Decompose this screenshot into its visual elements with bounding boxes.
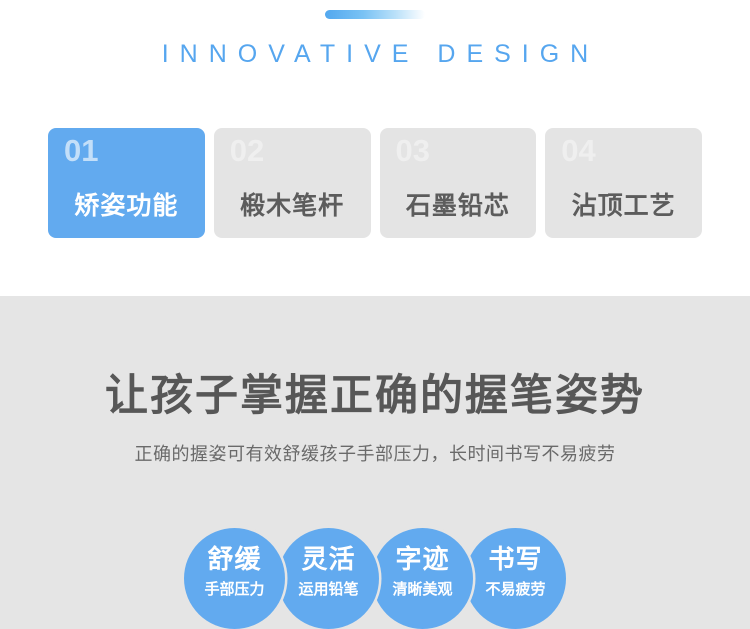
benefit-circle-2: 灵活 运用铅笔 [278, 528, 379, 629]
feature-tab-3-label: 石墨铅芯 [380, 186, 537, 222]
benefit-circle-3: 字迹 清晰美观 [372, 528, 473, 629]
benefit-circle-3-title: 字迹 [372, 546, 473, 572]
feature-tab-1-label: 矫姿功能 [48, 186, 205, 222]
feature-tab-2[interactable]: 02 椴木笔杆 [214, 128, 371, 238]
feature-tab-4-number: 04 [561, 135, 595, 166]
feature-tab-4-label: 沾顶工艺 [545, 186, 702, 222]
feature-tab-2-number: 02 [230, 135, 264, 166]
benefit-circle-4-title: 书写 [465, 546, 566, 572]
benefit-circle-4-subtitle: 不易疲劳 [465, 582, 566, 597]
page-eyebrow-title: INNOVATIVE DESIGN [0, 40, 750, 69]
benefit-circle-1-title: 舒缓 [184, 546, 285, 572]
benefit-circle-1-subtitle: 手部压力 [184, 582, 285, 597]
feature-tab-3[interactable]: 03 石墨铅芯 [380, 128, 537, 238]
feature-tab-2-label: 椴木笔杆 [214, 186, 371, 222]
benefit-subheadline: 正确的握姿可有效舒缓孩子手部压力，长时间书写不易疲劳 [0, 440, 750, 466]
benefit-section: 让孩子掌握正确的握笔姿势 正确的握姿可有效舒缓孩子手部压力，长时间书写不易疲劳 … [0, 296, 750, 629]
benefit-circle-4: 书写 不易疲劳 [465, 528, 566, 629]
feature-tab-3-number: 03 [396, 135, 430, 166]
benefit-circle-2-subtitle: 运用铅笔 [278, 582, 379, 597]
benefit-circle-row: 舒缓 手部压力 灵活 运用铅笔 字迹 清晰美观 书写 不易疲劳 [184, 528, 566, 629]
benefit-circle-1: 舒缓 手部压力 [184, 528, 285, 629]
feature-tab-1[interactable]: 01 矫姿功能 [48, 128, 205, 238]
benefit-circle-2-title: 灵活 [278, 546, 379, 572]
feature-tab-1-number: 01 [64, 135, 98, 166]
benefit-circle-3-subtitle: 清晰美观 [372, 582, 473, 597]
feature-tab-4[interactable]: 04 沾顶工艺 [545, 128, 702, 238]
intro-section: INNOVATIVE DESIGN 01 矫姿功能 02 椴木笔杆 03 石墨铅… [0, 0, 750, 296]
benefit-headline: 让孩子掌握正确的握笔姿势 [0, 361, 750, 423]
gradient-accent-bar-icon [325, 10, 425, 19]
feature-tab-row: 01 矫姿功能 02 椴木笔杆 03 石墨铅芯 04 沾顶工艺 [48, 128, 702, 238]
